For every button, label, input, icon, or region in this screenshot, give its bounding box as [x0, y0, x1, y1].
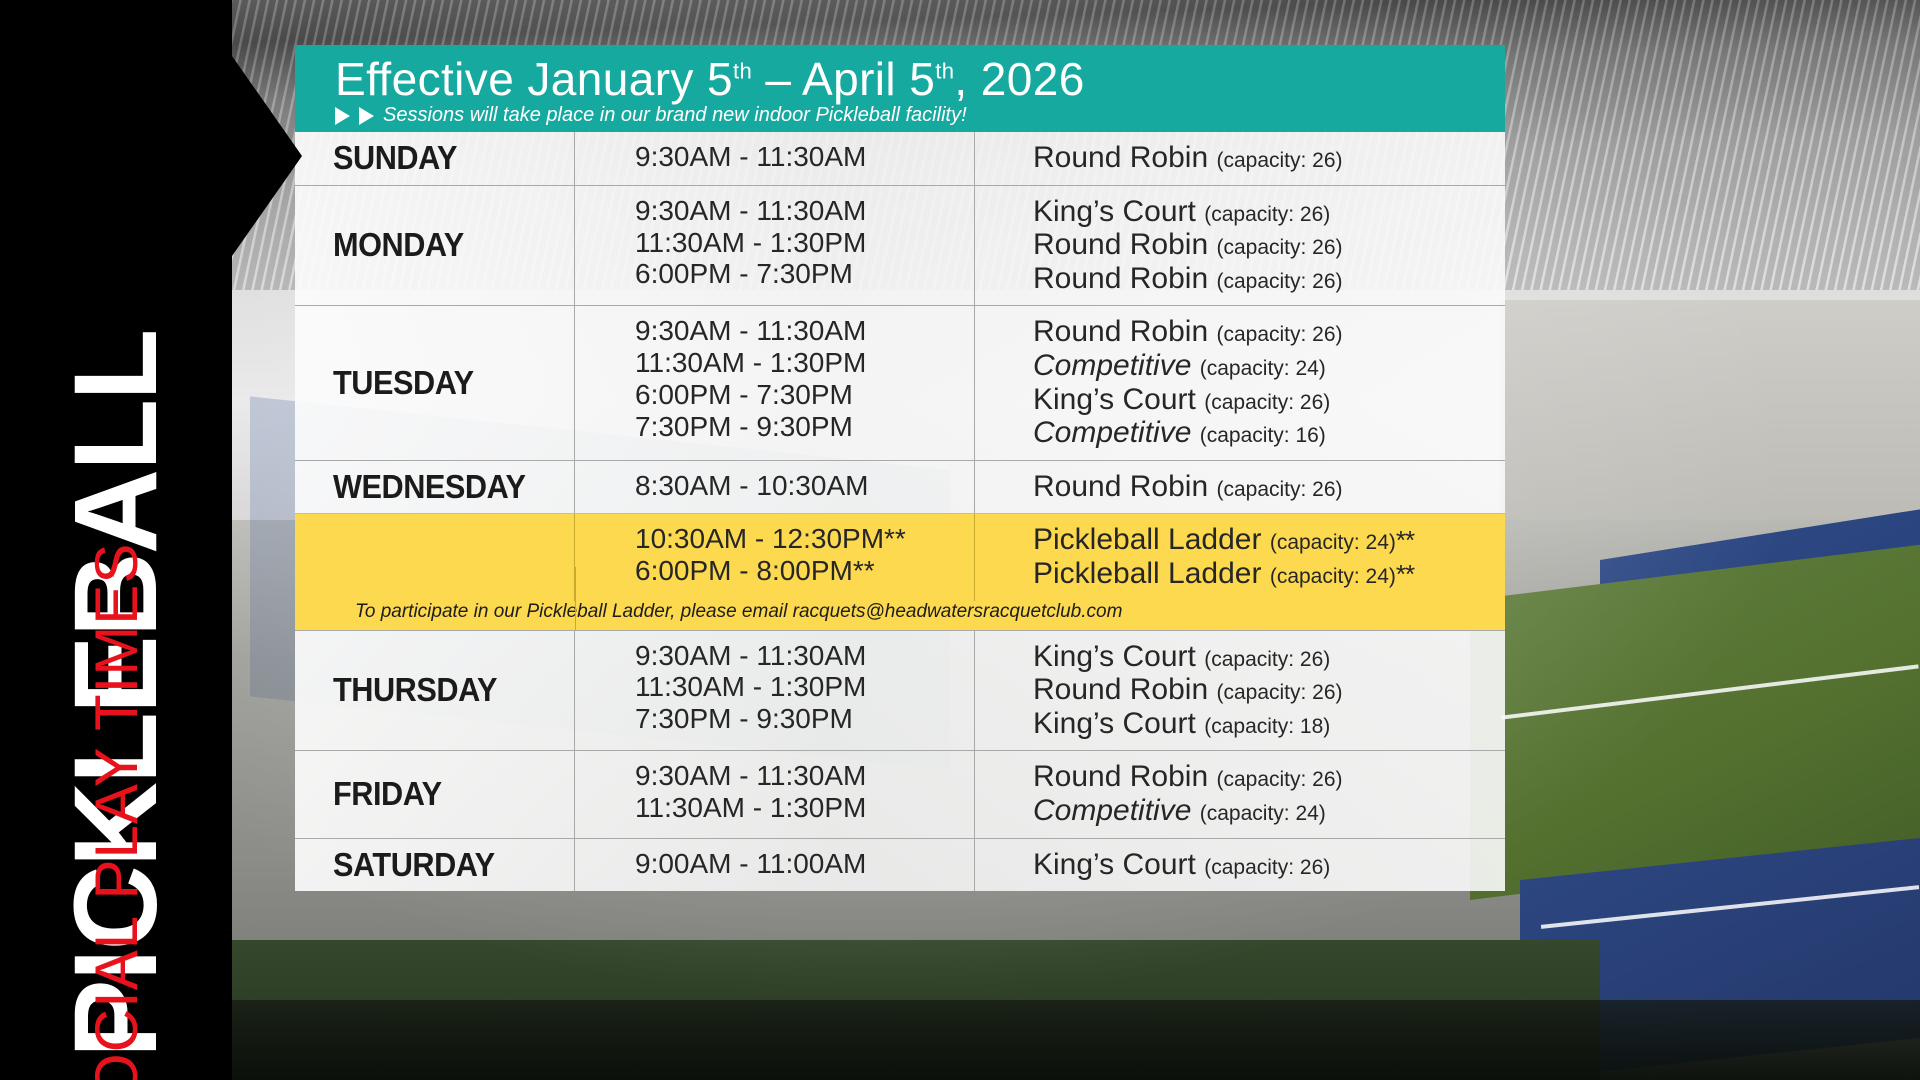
times-cell: 8:30AM - 10:30AM — [575, 461, 975, 514]
time-slot: 9:30AM - 11:30AM — [635, 141, 974, 173]
times-cell: 9:30AM - 11:30AM — [575, 132, 975, 185]
triangle-right-icon — [335, 107, 350, 125]
time-slot: 6:00PM - 7:30PM — [635, 379, 974, 411]
activity-capacity: (capacity: 26) — [1216, 323, 1342, 346]
activity-line: King’s Court (capacity: 26) — [1033, 383, 1505, 417]
times-cell: 9:30AM - 11:30AM11:30AM - 1:30PM6:00PM -… — [575, 306, 975, 459]
time-slot: 9:30AM - 11:30AM — [635, 195, 974, 227]
row-main-band: TUESDAY9:30AM - 11:30AM11:30AM - 1:30PM6… — [295, 306, 1505, 459]
day-cell: THURSDAY — [295, 631, 575, 751]
time-slot: 7:30PM - 9:30PM — [635, 411, 974, 443]
times-cell: 9:30AM - 11:30AM11:30AM - 1:30PM — [575, 751, 975, 837]
activity-name: King’s Court — [1033, 640, 1196, 673]
activity-name: Round Robin — [1033, 760, 1208, 793]
activity-line: King’s Court (capacity: 18) — [1033, 707, 1505, 741]
header-subtitle: Sessions will take place in our brand ne… — [383, 104, 967, 127]
activity-capacity: (capacity: 26) — [1204, 391, 1330, 414]
time-slot: 9:30AM - 11:30AM — [635, 315, 974, 347]
activity-capacity: (capacity: 26) — [1204, 648, 1330, 671]
activity-name: Round Robin — [1033, 673, 1208, 706]
table-row: WEDNESDAY8:30AM - 10:30AMRound Robin (ca… — [295, 461, 1505, 631]
activities-cell: Round Robin (capacity: 26)Competitive (c… — [975, 306, 1505, 459]
time-slot: 7:30PM - 9:30PM — [635, 703, 974, 735]
activities-cell: Round Robin (capacity: 26) — [975, 132, 1505, 185]
day-cell: WEDNESDAY — [295, 461, 575, 514]
schedule-table: SUNDAY9:30AM - 11:30AMRound Robin (capac… — [295, 132, 1505, 891]
time-slot: 11:30AM - 1:30PM — [635, 227, 974, 259]
schedule-panel: Effective January 5th – April 5th, 2026 … — [295, 45, 1505, 1080]
activity-line: Round Robin (capacity: 26) — [1033, 315, 1505, 349]
activity-name: Round Robin — [1033, 470, 1208, 503]
activity-capacity: (capacity: 26) — [1216, 236, 1342, 259]
title-ordinal-1: th — [733, 59, 752, 84]
activity-capacity: (capacity: 24) — [1270, 565, 1396, 588]
activity-capacity: (capacity: 24) — [1200, 802, 1326, 825]
time-slot: 6:00PM - 8:00PM** — [635, 555, 974, 587]
activities-cell: King’s Court (capacity: 26)Round Robin (… — [975, 186, 1505, 306]
activity-line: Competitive (capacity: 24) — [1033, 349, 1505, 383]
row-main-band: THURSDAY9:30AM - 11:30AM11:30AM - 1:30PM… — [295, 631, 1505, 751]
activity-capacity: (capacity: 26) — [1204, 856, 1330, 879]
activity-capacity: (capacity: 18) — [1204, 715, 1330, 738]
activity-line: King’s Court (capacity: 26) — [1033, 640, 1505, 674]
times-cell-highlighted: 10:30AM - 12:30PM**6:00PM - 8:00PM** — [575, 514, 975, 600]
table-row: THURSDAY9:30AM - 11:30AM11:30AM - 1:30PM… — [295, 631, 1505, 752]
day-cell-spacer — [295, 514, 575, 600]
activity-name: King’s Court — [1033, 383, 1196, 416]
day-label: SUNDAY — [333, 139, 457, 177]
activity-name: Competitive — [1033, 349, 1191, 382]
activity-name: King’s Court — [1033, 848, 1196, 881]
day-cell: FRIDAY — [295, 751, 575, 837]
day-cell: SATURDAY — [295, 839, 575, 892]
footnote-marker: ** — [1396, 525, 1414, 555]
title-suffix: , 2026 — [954, 53, 1084, 105]
activities-cell: King’s Court (capacity: 26)Round Robin (… — [975, 631, 1505, 751]
activity-line: King’s Court (capacity: 26) — [1033, 195, 1505, 229]
table-row: MONDAY9:30AM - 11:30AM11:30AM - 1:30PM6:… — [295, 186, 1505, 307]
activity-line: King’s Court (capacity: 26) — [1033, 848, 1505, 882]
activity-line: Round Robin (capacity: 26) — [1033, 228, 1505, 262]
activity-name: Pickleball Ladder — [1033, 557, 1261, 590]
activity-name: Competitive — [1033, 416, 1191, 449]
activity-capacity: (capacity: 26) — [1216, 149, 1342, 172]
activities-cell-highlighted: Pickleball Ladder (capacity: 24)**Pickle… — [975, 514, 1505, 600]
activity-line: Round Robin (capacity: 26) — [1033, 470, 1505, 504]
sidebar-title-group: PICKLEBALL SOCIAL PLAY TIMES — [0, 0, 232, 1080]
day-cell: MONDAY — [295, 186, 575, 306]
time-slot: 9:30AM - 11:30AM — [635, 760, 974, 792]
times-cell: 9:30AM - 11:30AM11:30AM - 1:30PM6:00PM -… — [575, 186, 975, 306]
row-main-band: FRIDAY9:30AM - 11:30AM11:30AM - 1:30PMRo… — [295, 751, 1505, 837]
day-label: FRIDAY — [333, 775, 442, 813]
day-label: WEDNESDAY — [333, 468, 526, 506]
footnote-marker: ** — [1396, 559, 1414, 589]
activities-cell: Round Robin (capacity: 26) — [975, 461, 1505, 514]
day-label: SATURDAY — [333, 846, 495, 884]
time-slot: 8:30AM - 10:30AM — [635, 470, 974, 502]
activity-line: Pickleball Ladder (capacity: 24)** — [1033, 557, 1505, 591]
row-main-band: SATURDAY9:00AM - 11:00AMKing’s Court (ca… — [295, 839, 1505, 892]
activity-capacity: (capacity: 26) — [1216, 270, 1342, 293]
page-title: Effective January 5th – April 5th, 2026 — [335, 55, 1505, 103]
activity-name: King’s Court — [1033, 195, 1196, 228]
highlighted-ladder-band: 10:30AM - 12:30PM**6:00PM - 8:00PM**Pick… — [295, 513, 1505, 600]
activity-name: Round Robin — [1033, 315, 1208, 348]
header-subtitle-row: Sessions will take place in our brand ne… — [335, 104, 1505, 127]
activity-line: Round Robin (capacity: 26) — [1033, 262, 1505, 296]
activity-name: Round Robin — [1033, 141, 1208, 174]
row-main-band: WEDNESDAY8:30AM - 10:30AMRound Robin (ca… — [295, 461, 1505, 514]
activity-line: Competitive (capacity: 24) — [1033, 794, 1505, 828]
time-slot: 11:30AM - 1:30PM — [635, 671, 974, 703]
activity-name: Pickleball Ladder — [1033, 523, 1261, 556]
day-label: TUESDAY — [333, 364, 474, 402]
activity-capacity: (capacity: 26) — [1216, 681, 1342, 704]
activity-line: Competitive (capacity: 16) — [1033, 416, 1505, 450]
activity-name: King’s Court — [1033, 707, 1196, 740]
activity-capacity: (capacity: 24) — [1270, 531, 1396, 554]
activities-cell: King’s Court (capacity: 26) — [975, 839, 1505, 892]
table-row: TUESDAY9:30AM - 11:30AM11:30AM - 1:30PM6… — [295, 306, 1505, 460]
row-main-band: MONDAY9:30AM - 11:30AM11:30AM - 1:30PM6:… — [295, 186, 1505, 306]
title-middle: – April 5 — [752, 53, 935, 105]
activity-name: Round Robin — [1033, 262, 1208, 295]
day-label: THURSDAY — [333, 671, 497, 709]
ladder-email-note: To participate in our Pickleball Ladder,… — [295, 601, 1505, 630]
time-slot: 9:30AM - 11:30AM — [635, 640, 974, 672]
time-slot: 9:00AM - 11:00AM — [635, 848, 974, 880]
activity-capacity: (capacity: 24) — [1200, 357, 1326, 380]
title-prefix: Effective January 5 — [335, 53, 733, 105]
times-cell: 9:00AM - 11:00AM — [575, 839, 975, 892]
activity-line: Round Robin (capacity: 26) — [1033, 673, 1505, 707]
activity-capacity: (capacity: 16) — [1200, 424, 1326, 447]
triangle-right-icon — [359, 107, 374, 125]
panel-header: Effective January 5th – April 5th, 2026 … — [295, 45, 1505, 132]
time-slot: 10:30AM - 12:30PM** — [635, 523, 974, 555]
table-row: FRIDAY9:30AM - 11:30AM11:30AM - 1:30PMRo… — [295, 751, 1505, 838]
row-main-band: SUNDAY9:30AM - 11:30AMRound Robin (capac… — [295, 132, 1505, 185]
activity-capacity: (capacity: 26) — [1216, 478, 1342, 501]
time-slot: 11:30AM - 1:30PM — [635, 347, 974, 379]
title-ordinal-2: th — [935, 59, 954, 84]
activity-name: Competitive — [1033, 794, 1191, 827]
day-label: MONDAY — [333, 226, 464, 264]
table-row: SATURDAY9:00AM - 11:00AMKing’s Court (ca… — [295, 839, 1505, 892]
time-slot: 11:30AM - 1:30PM — [635, 792, 974, 824]
activity-line: Round Robin (capacity: 26) — [1033, 141, 1505, 175]
activity-line: Round Robin (capacity: 26) — [1033, 760, 1505, 794]
activity-capacity: (capacity: 26) — [1204, 203, 1330, 226]
activity-line: Pickleball Ladder (capacity: 24)** — [1033, 523, 1505, 557]
activity-name: Round Robin — [1033, 228, 1208, 261]
day-cell: TUESDAY — [295, 306, 575, 459]
table-row: SUNDAY9:30AM - 11:30AMRound Robin (capac… — [295, 132, 1505, 186]
activities-cell: Round Robin (capacity: 26)Competitive (c… — [975, 751, 1505, 837]
activity-capacity: (capacity: 26) — [1216, 768, 1342, 791]
sidebar-subtitle: SOCIAL PLAY TIMES — [81, 91, 151, 1080]
time-slot: 6:00PM - 7:30PM — [635, 258, 974, 290]
times-cell: 9:30AM - 11:30AM11:30AM - 1:30PM7:30PM -… — [575, 631, 975, 751]
day-cell: SUNDAY — [295, 132, 575, 185]
